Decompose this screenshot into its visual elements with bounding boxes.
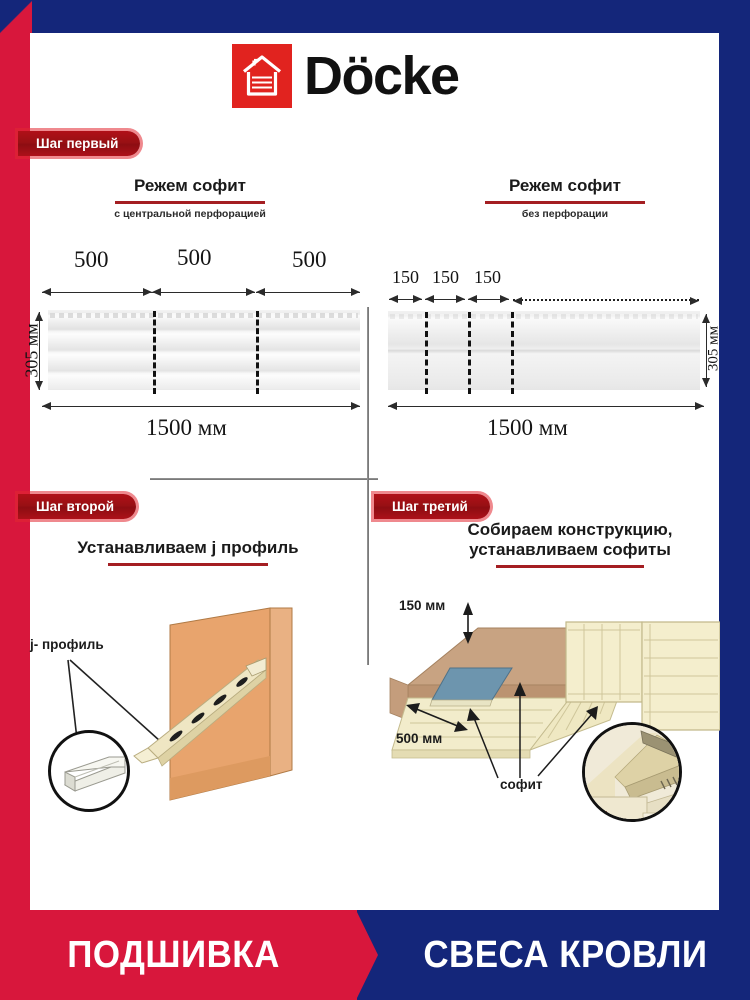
banner-right-blue: СВЕСА КРОВЛИ [357,910,750,1000]
divider-horizontal [150,478,378,480]
soffit-panel-non-perforated [388,311,700,390]
step-badge-3: Шаг третий [374,494,490,519]
step1-left-dim-seg2 [256,292,360,293]
step1-left-height-label: 305 мм [22,316,43,386]
step2-heading: Устанавливаем j профиль [68,538,308,570]
step1-right-subtitle: без перфорации [460,208,670,220]
step1-right-rule [485,201,645,204]
cut-line-right-2 [468,312,471,394]
step1-right-dim-seg0 [389,299,422,300]
step1-right-heading: Режем софит без перфорации [460,176,670,220]
brand-logo: Döcke [232,44,459,108]
step3-heading: Собираем конструкцию, устанавливаем софи… [440,520,700,572]
cut-line-right-3 [511,312,514,394]
cut-line-right-1 [425,312,428,394]
step1-right-height-label: 305 мм [706,319,723,379]
step1-left-total-label: 1500 мм [146,415,227,441]
step3-title-line2: устанавливаем софиты [440,540,700,560]
step1-left-seg-1: 500 [177,245,212,271]
step3-inset-circle [582,722,682,822]
frame-right-blue [719,0,750,910]
step2-inset-circle [48,730,130,812]
step1-right-title: Режем софит [460,176,670,196]
step1-right-seg-2: 150 [474,267,501,288]
step1-left-heading: Режем софит с центральной перфорацией [85,176,295,220]
step1-left-seg-0: 500 [74,247,109,273]
bottom-banner: ПОДШИВКА СВЕСА КРОВЛИ [0,910,750,1000]
house-icon [232,44,292,108]
step3-dim-side-label: 500 мм [396,731,442,746]
frame-corner-diagonal [0,0,32,34]
banner-left-text: ПОДШИВКА [67,934,280,977]
banner-left-red: ПОДШИВКА [0,910,357,1000]
step1-left-title: Режем софит [85,176,295,196]
brand-wordmark: Döcke [304,49,459,103]
step2-rule [108,563,268,566]
frame-top-blue [0,0,750,33]
step-badge-1: Шаг первый [18,131,140,156]
step3-rule [496,565,644,568]
step1-left-seg-2: 500 [292,247,327,273]
step1-left-dim-total [42,406,360,407]
soffit-panel-perforated [48,310,360,390]
house-icon-glyph [240,52,284,100]
perforation-strip-icon [50,313,358,318]
step2-callout-label: j- профиль [30,637,104,652]
step2-title: Устанавливаем j профиль [68,538,308,558]
cut-line-left-2 [256,311,259,394]
step1-left-rule [115,201,265,204]
step-badge-2: Шаг второй [18,494,136,519]
perforation-strip-icon [390,314,698,319]
step3-title-line1: Собираем конструкцию, [440,520,700,540]
step1-right-dim-seg2 [468,299,509,300]
banner-right-text: СВЕСА КРОВЛИ [423,934,707,977]
step1-left-subtitle: с центральной перфорацией [85,208,295,220]
step3-dim-top-label: 150 мм [399,598,445,613]
step1-left-dim-seg1 [152,292,255,293]
step1-right-seg-1: 150 [432,267,459,288]
poster-root: Döcke Шаг первый Режем софит с центральн… [0,0,750,1000]
step1-right-dim-remainder [513,299,699,301]
cut-line-left-1 [153,311,156,394]
step1-right-dim-total [388,406,704,407]
step1-right-dim-seg1 [425,299,465,300]
step1-left-dim-seg0 [42,292,152,293]
step1-right-total-label: 1500 мм [487,415,568,441]
step1-right-seg-0: 150 [392,267,419,288]
step3-callout-label: софит [500,777,542,792]
